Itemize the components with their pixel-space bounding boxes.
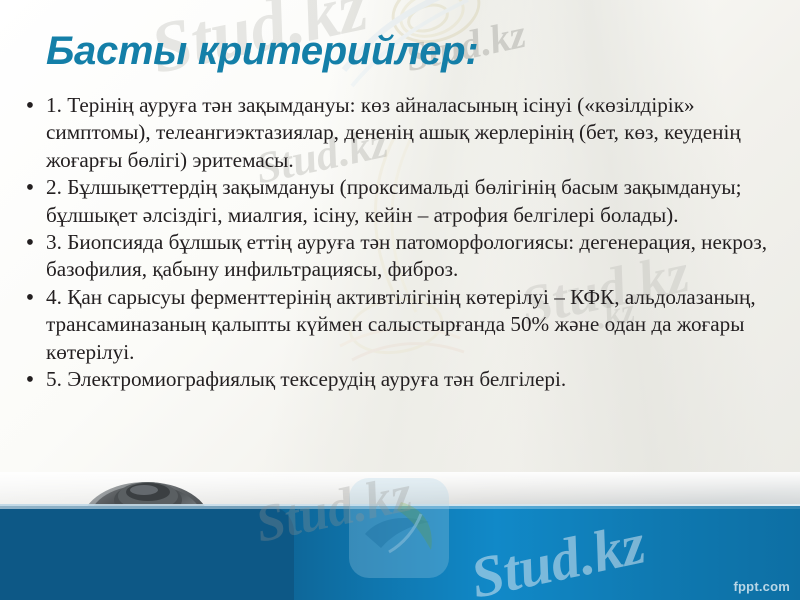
slide-title: Басты критерийлер: <box>46 28 478 74</box>
bullet-text: 3. Биопсияда бұлшық еттің ауруға тән пат… <box>46 229 794 284</box>
bullet-marker-icon: • <box>14 284 46 312</box>
list-item: • 3. Биопсияда бұлшық еттің ауруға тән п… <box>14 229 794 284</box>
bullet-text: 1. Терінің ауруға тән зақымдануы: көз ай… <box>46 92 794 174</box>
bullet-list: • 1. Терінің ауруға тән зақымдануы: көз … <box>14 92 794 394</box>
bullet-marker-icon: • <box>14 174 46 202</box>
list-item: • 1. Терінің ауруға тән зақымдануы: көз … <box>14 92 794 174</box>
bullet-marker-icon: • <box>14 366 46 394</box>
bullet-text: 2. Бұлшықеттердің зақымдануы (проксималь… <box>46 174 794 229</box>
list-item: • 5. Электромиографиялық тексерудің ауру… <box>14 366 794 394</box>
stethoscope-photo-band <box>0 472 800 600</box>
bullet-text: 4. Қан сарысуы ферменттерінің активтіліг… <box>46 284 794 366</box>
bullet-marker-icon: • <box>14 229 46 257</box>
bullet-text: 5. Электромиографиялық тексерудің ауруға… <box>46 366 794 393</box>
list-item: • 2. Бұлшықеттердің зақымдануы (проксима… <box>14 174 794 229</box>
fppt-credit[interactable]: fppt.com <box>734 579 790 594</box>
list-item: • 4. Қан сарысуы ферменттерінің активтіл… <box>14 284 794 366</box>
bullet-marker-icon: • <box>14 92 46 120</box>
slide-canvas: Басты критерийлер: • 1. Терінің ауруға т… <box>0 0 800 600</box>
blue-footer-panel <box>0 506 800 600</box>
